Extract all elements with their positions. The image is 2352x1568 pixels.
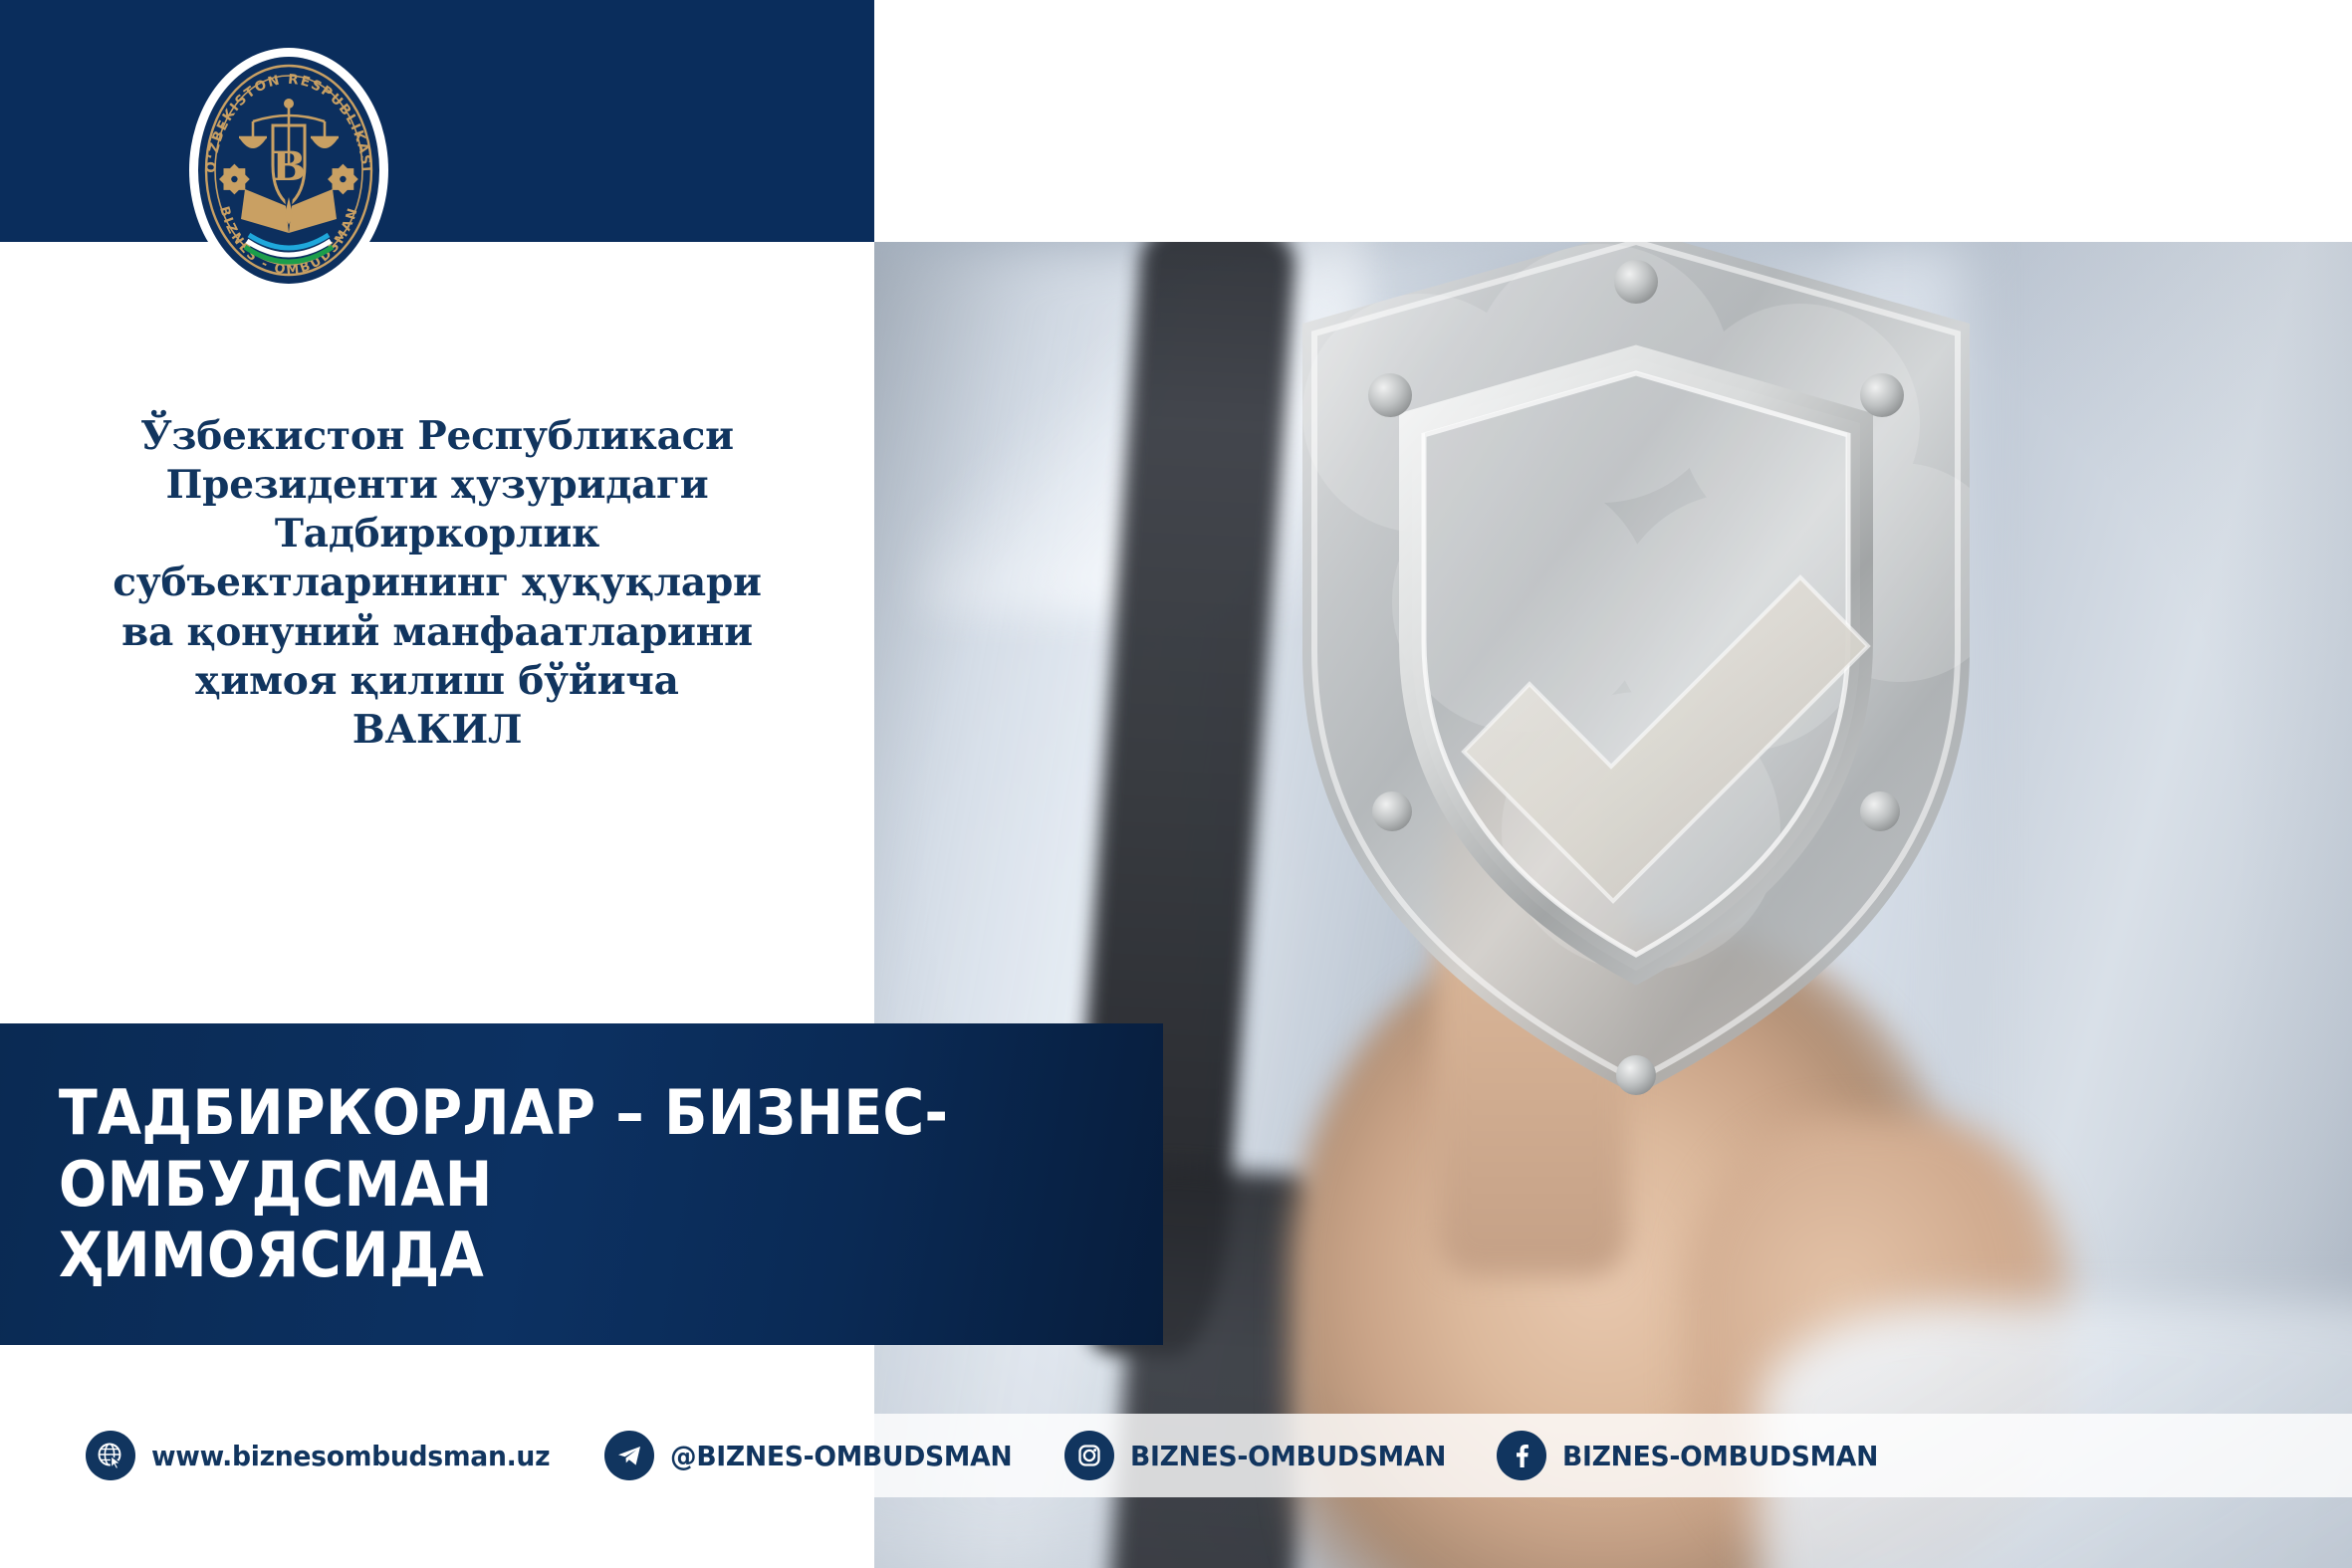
facebook-icon bbox=[1497, 1431, 1546, 1480]
organization-title-block: Ўзбекистон Республикаси Президенти ҳузур… bbox=[0, 412, 874, 755]
footer-facebook-label: BIZNES-OMBUDSMAN bbox=[1562, 1440, 1878, 1472]
org-line-4: субъектларининг ҳуқуқлари bbox=[60, 559, 815, 607]
poster-canvas: O‘ZBEKISTON RESPUBLIKASI BIZNES - OMBUDS… bbox=[0, 0, 2352, 1568]
footer-contact-bar: www.biznesombudsman.uz @BIZNES-OMBUDSMAN… bbox=[0, 1414, 2352, 1497]
telegram-icon bbox=[604, 1431, 654, 1480]
footer-item-instagram[interactable]: BIZNES-OMBUDSMAN bbox=[1064, 1431, 1463, 1480]
footer-item-telegram[interactable]: @BIZNES-OMBUDSMAN bbox=[604, 1431, 1030, 1480]
org-line-6: ҳимоя қилиш бўйича bbox=[60, 657, 815, 706]
top-blue-band bbox=[0, 0, 874, 242]
footer-item-website[interactable]: www.biznesombudsman.uz bbox=[86, 1431, 571, 1480]
headline-banner: ТАДБИРКОРЛАР – БИЗНЕС-ОМБУДСМАН ҲИМОЯСИД… bbox=[0, 1023, 1163, 1345]
footer-website-label: www.biznesombudsman.uz bbox=[151, 1440, 550, 1472]
biznes-ombudsman-emblem: O‘ZBEKISTON RESPUBLIKASI BIZNES - OMBUDS… bbox=[189, 48, 388, 293]
emblem-letter-b: B bbox=[272, 143, 306, 190]
org-line-5: ва қонуний манфаатларини bbox=[60, 608, 815, 657]
headline-text: ТАДБИРКОРЛАР – БИЗНЕС-ОМБУДСМАН ҲИМОЯСИД… bbox=[0, 1077, 1070, 1292]
footer-instagram-label: BIZNES-OMBUDSMAN bbox=[1130, 1440, 1446, 1472]
hero-photo bbox=[874, 242, 2352, 1568]
footer-item-facebook[interactable]: BIZNES-OMBUDSMAN bbox=[1497, 1431, 1895, 1480]
org-line-3: Тадбиркорлик bbox=[60, 510, 815, 559]
org-line-1: Ўзбекистон Республикаси bbox=[60, 412, 815, 461]
globe-icon bbox=[86, 1431, 135, 1480]
footer-telegram-label: @BIZNES-OMBUDSMAN bbox=[670, 1440, 1012, 1472]
org-line-7: ВАКИЛ bbox=[60, 706, 815, 755]
shield-check-icon bbox=[1243, 242, 2029, 1170]
org-line-2: Президенти ҳузуридаги bbox=[60, 461, 815, 510]
emblem-artwork: O‘ZBEKISTON RESPUBLIKASI BIZNES - OMBUDS… bbox=[189, 48, 388, 293]
instagram-icon bbox=[1064, 1431, 1114, 1480]
